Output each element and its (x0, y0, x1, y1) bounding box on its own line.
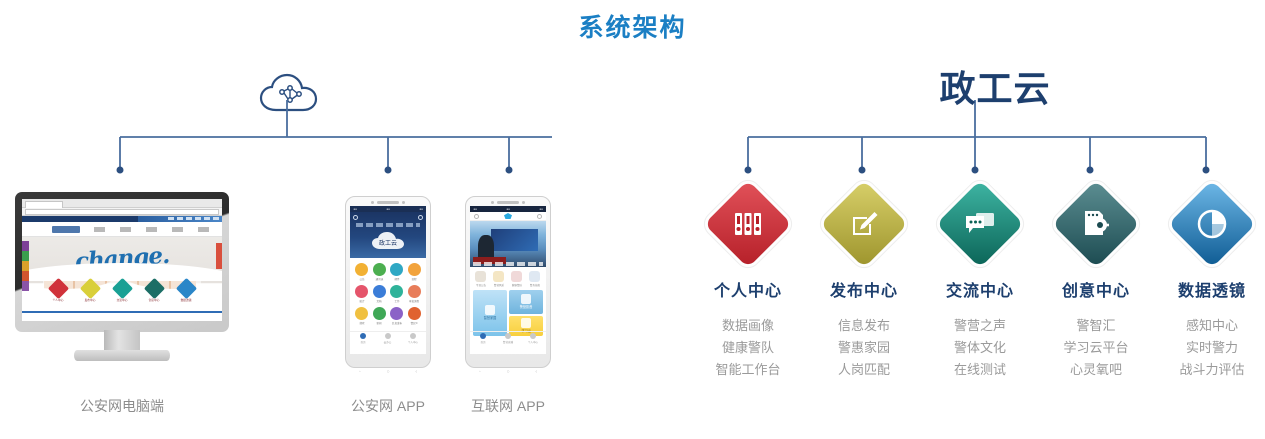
site-hero: change. 个人中心 发布中心 交流中心 (22, 237, 222, 311)
app-tile-label: 文档 (377, 299, 382, 302)
briefcase-icon (485, 305, 495, 315)
phone-one-bottom-nav: 首页 云办公 个人中心 (350, 331, 426, 345)
site-menubar (22, 222, 222, 237)
app-tile[interactable]: 新闻 (372, 307, 388, 325)
quick-entry-label: 健康警队 (512, 283, 522, 286)
nav-item-home[interactable]: 首页 (350, 332, 375, 345)
pie-chart-glyph (1196, 208, 1228, 240)
app-tile[interactable]: 审批流程 (407, 285, 423, 303)
caption-internet-app: 互联网 APP (465, 396, 551, 416)
caption-police-app: 公安网 APP (345, 396, 431, 416)
hero-card-label: 数据透镜 (181, 298, 192, 302)
browser-address-bar[interactable] (22, 208, 222, 216)
pillar-title: 个人中心 (714, 277, 782, 301)
header-icons[interactable] (353, 215, 423, 220)
quick-entry[interactable]: 警营风采 (493, 271, 505, 287)
pillar-sub-list: 警智汇 学习云平台 心灵氧吧 (1063, 315, 1128, 381)
home-icon (360, 333, 366, 339)
app-tile[interactable]: 信息发布 (389, 307, 405, 325)
nav-label: 首页 (480, 340, 485, 343)
nav-label: 云办公 (384, 340, 392, 343)
hero-diamond-icon (111, 278, 132, 299)
hero-card[interactable]: 创意中心 (139, 275, 169, 308)
feature-tiles: 智慧家园 警营影音 学习云 (470, 290, 546, 336)
edit-pencil-glyph (849, 209, 879, 239)
pillar-sub-list: 数据画像 健康警队 智能工作台 (715, 315, 780, 381)
hero-diamond-icon (175, 278, 196, 299)
pillar-sub-item[interactable]: 学习云平台 (1063, 337, 1128, 359)
monitor-stand-base (74, 350, 170, 361)
pillar-sub-list: 感知中心 实时警力 战斗力评估 (1179, 315, 1244, 381)
pillar-sub-list: 信息发布 警惠家园 人岗匹配 (838, 315, 890, 381)
app-topbar[interactable] (470, 212, 546, 221)
app-tile[interactable]: 统计 (354, 285, 370, 303)
app-tile[interactable]: 邮件 (389, 263, 405, 281)
app-tile-label: 通讯录 (375, 277, 383, 280)
hero-card-row: 个人中心 发布中心 交流中心 创意中心 (43, 275, 201, 308)
pillar-title: 发布中心 (830, 277, 898, 301)
quick-entry[interactable]: 健康警队 (511, 271, 523, 287)
address-input[interactable] (25, 209, 219, 215)
hero-card-label: 交流中心 (117, 298, 128, 302)
hero-card-label: 创意中心 (149, 298, 160, 302)
phone-speaker (491, 201, 525, 204)
close-icon[interactable] (537, 214, 542, 219)
monitor-bezel: change. 个人中心 发布中心 交流中心 (15, 192, 229, 332)
pillar-sub-item[interactable]: 在线测试 (954, 359, 1006, 381)
pillar-sub-item[interactable]: 人岗匹配 (838, 359, 890, 381)
hero-card[interactable]: 个人中心 (43, 275, 73, 308)
app-tile-label: 统计 (359, 299, 364, 302)
hero-card-label: 个人中心 (53, 298, 64, 302)
app-grid: 公告 通讯录 邮件 日程 统计 文档 工作 审批流程 搜索 新闻 信息发布 警民… (350, 258, 426, 330)
pillar-title: 数据透镜 (1178, 277, 1246, 301)
app-tile[interactable]: 通讯录 (372, 263, 388, 281)
hero-card-label: 发布中心 (85, 298, 96, 302)
police-app-phone: ●●●●●● 政工云 公告 通讯录 邮件 日程 统计 文档 工作 (345, 196, 431, 368)
chat-bubbles-glyph (964, 211, 996, 237)
phone-two-bottom-nav: 首页 警营直播 个人中心 (470, 331, 546, 345)
app-tile-label: 审批流程 (409, 299, 419, 302)
app-cloud-logo-icon: 政工云 (371, 231, 405, 256)
site-side-tab-right[interactable] (216, 243, 222, 269)
pillar-data-lens[interactable]: 数据透镜 感知中心 实时警力 战斗力评估 (1154, 193, 1265, 381)
video-icon (505, 333, 511, 339)
right-connector-lines (0, 100, 1265, 190)
phone-home-bar[interactable]: ◦○‹ (346, 367, 430, 376)
app-tile[interactable]: 工作 (389, 285, 405, 303)
phone-home-bar[interactable]: ◦○‹ (466, 367, 550, 376)
nav-label: 个人中心 (408, 340, 418, 343)
app-tile-label: 信息发布 (392, 321, 402, 324)
quick-entry-label: 警务技能 (530, 283, 540, 286)
site-side-tabs-left[interactable] (22, 241, 29, 291)
hero-diamond-icon (79, 278, 100, 299)
image-icon (521, 294, 531, 304)
pillar-sub-item[interactable]: 警智汇 (1063, 315, 1128, 337)
quick-entry[interactable]: 警务技能 (529, 271, 541, 287)
hero-card[interactable]: 数据透镜 (171, 275, 201, 308)
pillar-sub-item[interactable]: 警惠家园 (838, 337, 890, 359)
phone-one-screen: ●●●●●● 政工云 公告 通讯录 邮件 日程 统计 文档 工作 (350, 206, 426, 354)
app-tile-label: 搜索 (359, 321, 364, 324)
monitor-screen: change. 个人中心 发布中心 交流中心 (22, 199, 222, 321)
pillar-sub-item[interactable]: 信息发布 (838, 315, 890, 337)
quick-entry-row: 今日公告 警营风采 健康警队 警务技能 (470, 267, 546, 290)
service-pillars: 个人中心 数据画像 健康警队 智能工作台 发布中心 信息发布 警惠家园 人岗匹配 (690, 193, 1265, 381)
pillar-sub-item[interactable]: 实时警力 (1179, 337, 1244, 359)
hero-diamond-icon (47, 278, 68, 299)
app-tile-label: 公告 (359, 277, 364, 280)
nav-label: 个人中心 (528, 340, 538, 343)
news-banner[interactable] (470, 221, 546, 267)
pillar-sub-item[interactable]: 战斗力评估 (1179, 359, 1244, 381)
internet-app-phone: ●●●●●● 今日公告 警营风采 健康警队 警务技能 智慧家园 警营影音 (465, 196, 551, 368)
chat-bubbles-icon[interactable] (936, 180, 1024, 268)
app-tile[interactable]: 公告 (354, 263, 370, 281)
app-tile[interactable]: 文档 (372, 285, 388, 303)
quick-entry[interactable]: 今日公告 (475, 271, 487, 287)
pie-chart-icon[interactable] (1168, 180, 1256, 268)
browser-titlebar (22, 199, 222, 208)
pillar-sub-item[interactable]: 感知中心 (1179, 315, 1244, 337)
app-tile[interactable]: 日程 (407, 263, 423, 281)
person-icon (410, 333, 416, 339)
caption-desktop: 公安网电脑端 (15, 396, 229, 416)
nav-item-cloud-office[interactable]: 云办公 (375, 332, 400, 345)
nav-item-home[interactable]: 首页 (470, 332, 495, 345)
binders-glyph (733, 211, 763, 237)
quick-entry-label: 今日公告 (476, 283, 486, 286)
pillar-title: 交流中心 (946, 277, 1014, 301)
phone-speaker (371, 201, 405, 204)
banner-screen (491, 229, 538, 251)
pillar-sub-item[interactable]: 警营之声 (954, 315, 1006, 337)
pillar-sub-item[interactable]: 数据画像 (715, 315, 780, 337)
site-logo (52, 226, 80, 233)
banner-caption (473, 262, 543, 266)
nav-label: 首页 (360, 340, 365, 343)
feature-tile-label: 警营影音 (520, 305, 533, 310)
pillar-sub-item[interactable]: 健康警队 (715, 337, 780, 359)
document-gear-glyph (1081, 209, 1111, 239)
app-tile-label: 工作 (394, 299, 399, 302)
svg-text:政工云: 政工云 (379, 239, 397, 247)
feature-tile-label: 智慧家园 (484, 316, 497, 321)
pillar-sub-list: 警营之声 警体文化 在线测试 (954, 315, 1006, 381)
document-gear-icon[interactable] (1052, 180, 1140, 268)
pillar-exchange-center[interactable]: 交流中心 警营之声 警体文化 在线测试 (922, 193, 1038, 381)
phone-two-screen: ●●●●●● 今日公告 警营风采 健康警队 警务技能 智慧家园 警营影音 (470, 206, 546, 354)
book-icon (521, 318, 531, 328)
gear-icon (418, 215, 423, 220)
cloud-brand-title: 政工云 (905, 60, 1085, 112)
app-tile-label: 日程 (412, 277, 417, 280)
cloud-icon (385, 333, 391, 339)
nav-item-profile[interactable]: 个人中心 (401, 332, 426, 345)
edit-pencil-icon[interactable] (820, 180, 908, 268)
hero-card[interactable]: 发布中心 (75, 275, 105, 308)
app-tile[interactable]: 搜索 (354, 307, 370, 325)
gear-icon[interactable] (474, 214, 479, 219)
pillar-sub-item[interactable]: 智能工作台 (715, 359, 780, 381)
hero-card[interactable]: 交流中心 (107, 275, 137, 308)
person-icon (530, 333, 536, 339)
app-tile[interactable]: 警民C (407, 307, 423, 325)
binders-icon[interactable] (704, 180, 792, 268)
header-ticker-text (356, 223, 420, 227)
nav-label: 警营直播 (503, 340, 513, 343)
nav-item-live[interactable]: 警营直播 (495, 332, 520, 345)
site-menu-items[interactable] (94, 227, 216, 232)
monitor-stand-neck (104, 330, 140, 352)
hero-diamond-icon (143, 278, 164, 299)
pillar-sub-item[interactable]: 警体文化 (954, 337, 1006, 359)
feature-tile-media[interactable]: 警营影音 (509, 290, 543, 314)
pillar-creative-center[interactable]: 创意中心 警智汇 学习云平台 心灵氧吧 (1038, 193, 1154, 381)
menu-icon (353, 215, 358, 220)
pillar-publish-center[interactable]: 发布中心 信息发布 警惠家园 人岗匹配 (806, 193, 922, 381)
app-tile-label: 警民C (411, 321, 418, 324)
site-footer (22, 311, 222, 321)
browser-tab[interactable] (25, 201, 63, 208)
page-title: 系统架构 (0, 8, 1265, 44)
pillar-title: 创意中心 (1062, 277, 1130, 301)
pillar-personal-center[interactable]: 个人中心 数据画像 健康警队 智能工作台 (690, 193, 806, 381)
quick-entry-label: 警营风采 (494, 283, 504, 286)
home-icon (480, 333, 486, 339)
feature-tile-main[interactable]: 智慧家园 (473, 290, 507, 336)
nav-item-profile[interactable]: 个人中心 (521, 332, 546, 345)
app-tile-label: 新闻 (377, 321, 382, 324)
desktop-monitor: change. 个人中心 发布中心 交流中心 (15, 192, 229, 370)
app-badge-icon (504, 213, 512, 219)
pillar-sub-item[interactable]: 心灵氧吧 (1063, 359, 1128, 381)
app-tile-label: 邮件 (394, 277, 399, 280)
app-header: 政工云 (350, 212, 426, 258)
